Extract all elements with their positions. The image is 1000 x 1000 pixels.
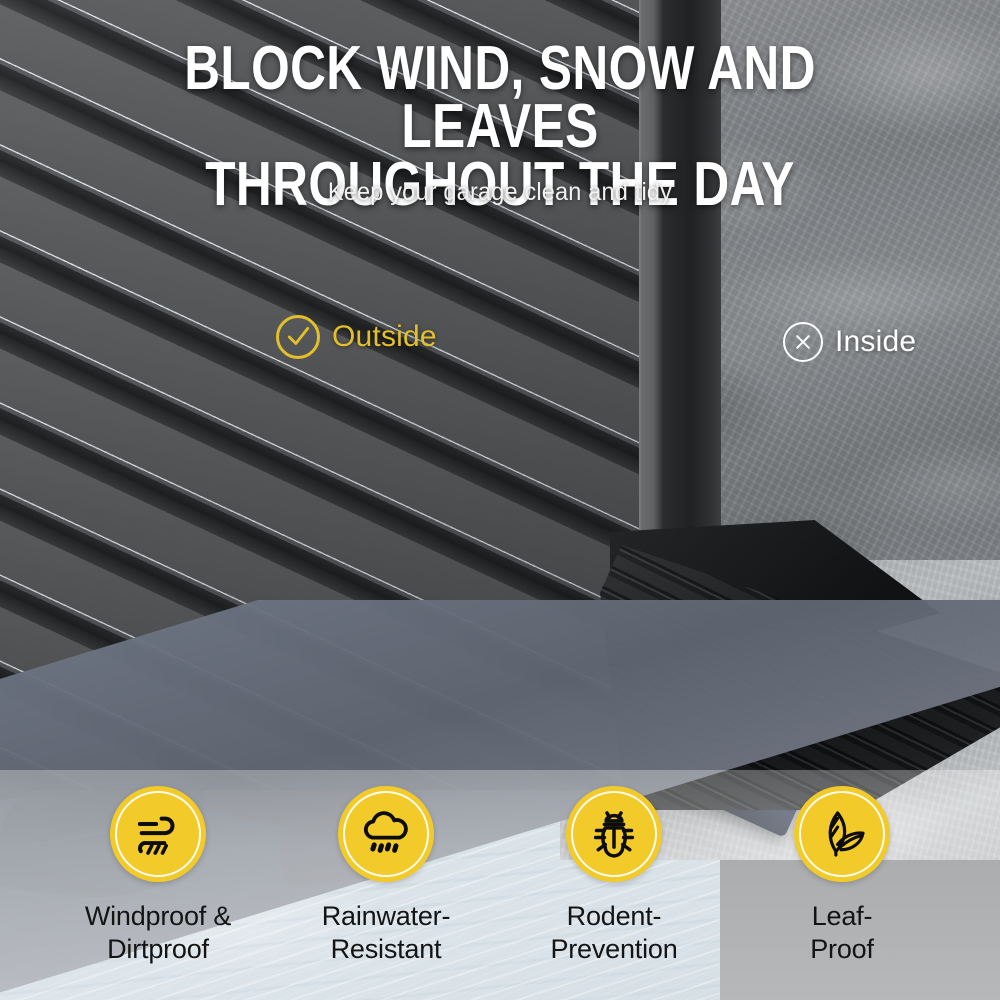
tag-outside-label: Outside [332,320,437,354]
subheadline: Keep your garage clean and tidy [30,178,970,207]
feature-caption-line-2: Proof [810,934,874,964]
feature-caption: Rainwater- Resistant [322,900,451,966]
feature-caption: Windproof & Dirtproof [85,900,231,966]
product-marketing-image: BLOCK WIND, SNOW AND LEAVES THROUGHOUT T… [0,0,1000,1000]
tag-outside: Outside [276,315,437,359]
feature-caption-line-2: Resistant [331,934,442,964]
feature-caption-line-2: Dirtproof [107,934,209,964]
feature-caption-line-1: Leaf- [812,901,873,931]
wind-dust-icon [110,786,206,882]
feature-caption-line-1: Windproof & [85,901,231,931]
feature-caption-line-1: Rodent- [567,901,662,931]
feature-rainwater: Rainwater- Resistant [301,786,471,966]
feature-badge-row: Windproof & Dirtproof Rainwater- Resista… [0,786,1000,966]
feature-windproof: Windproof & Dirtproof [73,786,243,966]
feature-caption: Leaf- Proof [810,900,874,966]
feature-caption-line-2: Prevention [550,934,677,964]
rain-cloud-icon [338,786,434,882]
circle-x-icon [783,322,823,362]
feature-caption-line-1: Rainwater- [322,901,451,931]
feature-rodent: Rodent- Prevention [529,786,699,966]
circle-check-icon [276,315,320,359]
tag-inside: Inside [783,322,916,362]
feature-caption: Rodent- Prevention [550,900,677,966]
beetle-bug-icon [566,786,662,882]
headline-line-1: BLOCK WIND, SNOW AND LEAVES [184,34,816,161]
tag-inside-label: Inside [835,325,916,359]
feature-leaf: Leaf- Proof [757,786,927,966]
two-leaves-icon [794,786,890,882]
